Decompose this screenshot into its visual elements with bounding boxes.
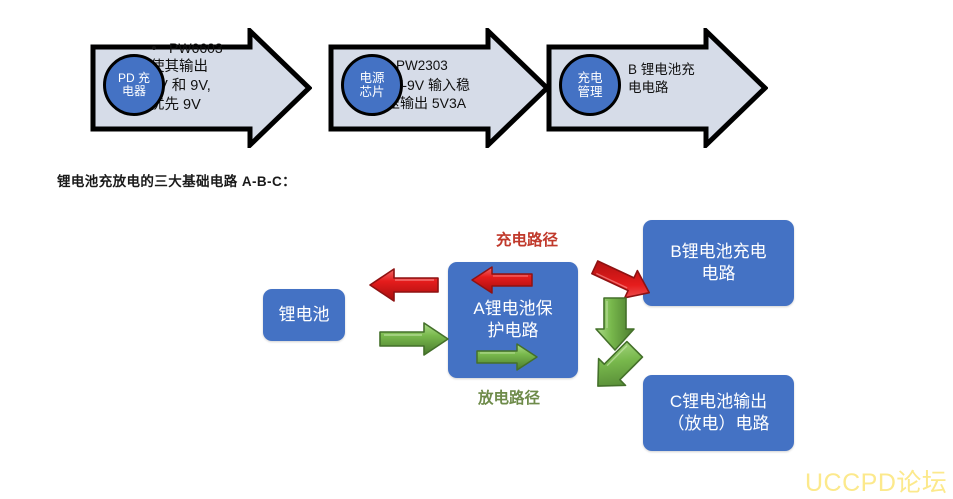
chip-line-1: 电源 bbox=[359, 71, 384, 85]
flow-step-3-desc: B 锂电池充 电电路 bbox=[628, 61, 758, 96]
flow-step-1: PD 充 电器 PW6603 使其输出 5V 和 9V, 优先 9V bbox=[90, 28, 312, 148]
node-protection-label: A锂电池保 护电路 bbox=[473, 298, 552, 342]
charge-path-label: 充电路径 bbox=[496, 228, 558, 250]
flow-step-2-chip: 电源 芯片 bbox=[341, 54, 403, 116]
node-output-circuit-label: C锂电池输出 （放电）电路 bbox=[668, 391, 770, 435]
section-caption: 锂电池充放电的三大基础电路 A-B-C： bbox=[57, 170, 296, 190]
node-battery[interactable]: 锂电池 bbox=[263, 289, 345, 341]
chip-line-2: 芯片 bbox=[359, 85, 384, 99]
flow-step-2: 电源 芯片 PW2303 5V-9V 输入稳 压输出 5V3A bbox=[328, 28, 550, 148]
charge-arrow-inside-protection-icon bbox=[470, 264, 534, 296]
chip-line-1: PD 充 bbox=[118, 72, 150, 85]
node-charge-circuit-label: B锂电池充电 电路 bbox=[670, 241, 766, 285]
flow-step-1-part: PW6603 bbox=[169, 39, 223, 57]
flow-step-2-part: PW2303 bbox=[396, 57, 448, 75]
watermark: UCCPD论坛 bbox=[805, 463, 947, 499]
slide-canvas: PD 充 电器 PW6603 使其输出 5V 和 9V, 优先 9V 电源 芯片… bbox=[0, 0, 953, 499]
flow-step-2-desc: 5V-9V 输入稳 压输出 5V3A bbox=[386, 76, 536, 112]
discharge-arrow-to-protection-icon bbox=[378, 320, 450, 358]
flow-step-3-chip: 充电 管理 bbox=[559, 54, 621, 116]
chip-line-2: 电器 bbox=[122, 85, 146, 98]
node-output-circuit[interactable]: C锂电池输出 （放电）电路 bbox=[643, 375, 794, 451]
discharge-arrow-inside-protection-icon bbox=[475, 341, 539, 373]
node-charge-circuit[interactable]: B锂电池充电 电路 bbox=[643, 220, 794, 306]
chip-line-1: 充电 bbox=[577, 71, 602, 85]
flow-step-1-desc: 使其输出 5V 和 9V, 优先 9V bbox=[150, 58, 290, 115]
node-battery-label: 锂电池 bbox=[279, 304, 330, 326]
bullet-dot-icon bbox=[152, 46, 156, 50]
flow-step-3: 充电 管理 B 锂电池充 电电路 bbox=[546, 28, 768, 148]
chip-line-2: 管理 bbox=[577, 85, 602, 99]
charge-arrow-to-battery-icon bbox=[368, 266, 440, 304]
discharge-arrow-to-c-icon bbox=[586, 338, 648, 396]
flow-step-1-chip: PD 充 电器 bbox=[103, 54, 165, 116]
discharge-path-label: 放电路径 bbox=[478, 386, 540, 408]
